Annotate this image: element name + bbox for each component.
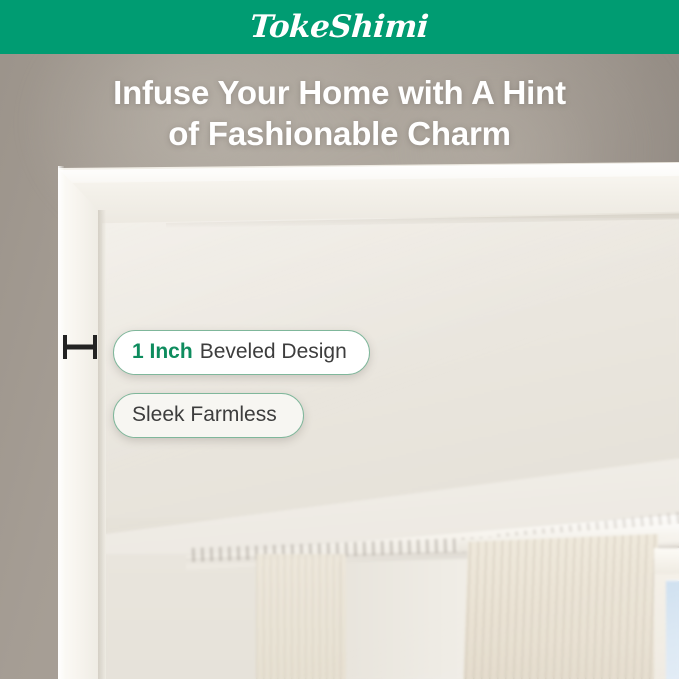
headline-line-2: of Fashionable Charm: [40, 113, 639, 154]
feature-pill-beveled-design: 1 Inch Beveled Design: [113, 330, 370, 375]
reflection-curtain-left: [256, 554, 346, 679]
feature-pill-accent-text: 1 Inch: [132, 341, 193, 362]
width-caliper-icon: [62, 334, 98, 360]
brand-banner: TokeShimi: [0, 0, 679, 54]
headline-line-1: Infuse Your Home with A Hint: [40, 72, 639, 113]
feature-pill-label: Sleek Farmless: [132, 404, 277, 425]
reflection-window-header: [654, 548, 679, 574]
mirror-frame-left-edge-highlight: [58, 166, 64, 679]
brand-logo: TokeShimi: [249, 12, 429, 43]
product-banner-image: 1 Inch Beveled Design Sleek Farmless Inf…: [0, 0, 679, 679]
mirror-glass-reflection: [106, 218, 679, 679]
mirror-frame-left-inner-bevel: [98, 210, 106, 679]
feature-pill-sleek-frameless: Sleek Farmless: [113, 393, 304, 438]
reflection-curtain-main: [462, 534, 658, 679]
reflection-window-pane-left: [666, 580, 679, 679]
feature-pill-label: Beveled Design: [200, 341, 347, 362]
headline: Infuse Your Home with A Hint of Fashiona…: [0, 72, 679, 154]
